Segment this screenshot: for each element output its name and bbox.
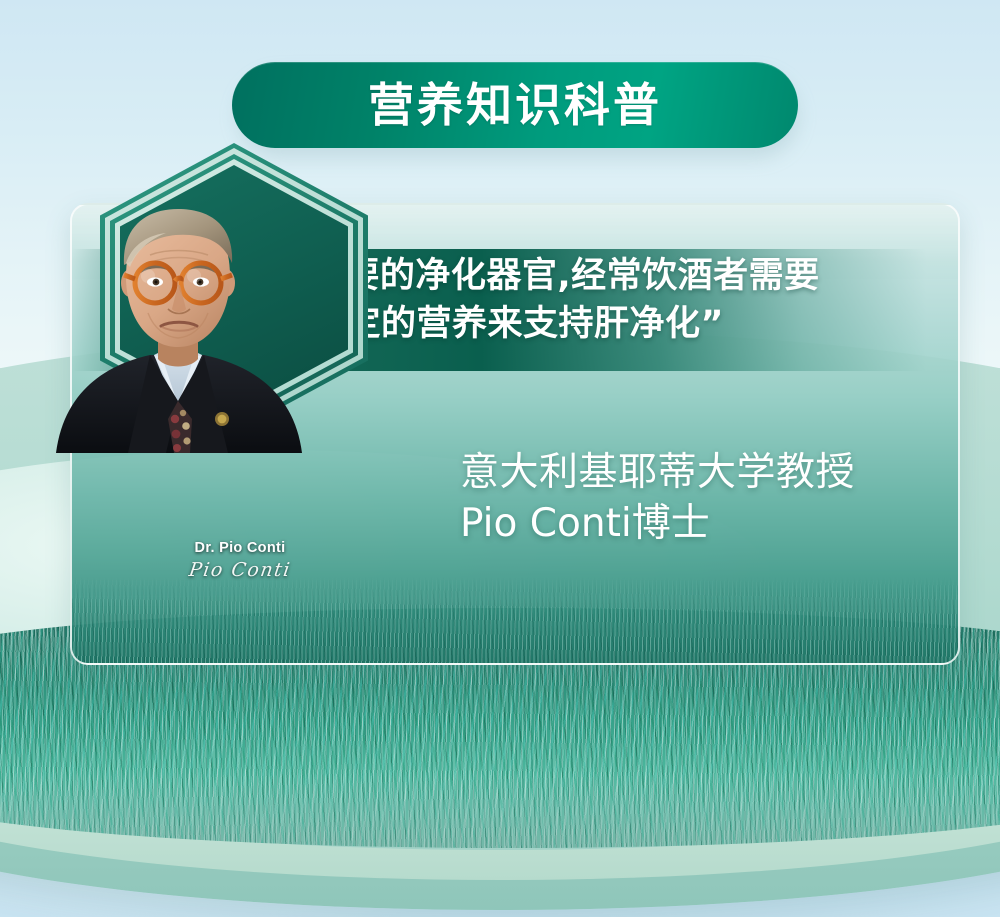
card-grass-overlay bbox=[72, 577, 960, 663]
attribution-line-2: Pio Conti博士 bbox=[460, 499, 930, 550]
portrait-name-label: Dr. Pio Conti bbox=[175, 540, 305, 556]
grass-shadow bbox=[0, 778, 1000, 848]
attribution-line-1: 意大利基耶蒂大学教授 bbox=[460, 448, 930, 499]
poster-stage: 营养知识科普 “肝是主要的净化器官,经常饮酒者需要 特定的营养来支持肝净化” 意… bbox=[0, 0, 1000, 917]
portrait-signature: Pio Conti bbox=[173, 559, 306, 581]
portrait-nameplate: Dr. Pio Conti Pio Conti bbox=[175, 540, 305, 581]
portrait-photo bbox=[62, 205, 292, 453]
page-title: 营养知识科普 bbox=[368, 82, 662, 128]
header-pill: 营养知识科普 bbox=[232, 62, 798, 148]
attribution-text: 意大利基耶蒂大学教授 Pio Conti博士 bbox=[460, 448, 930, 549]
